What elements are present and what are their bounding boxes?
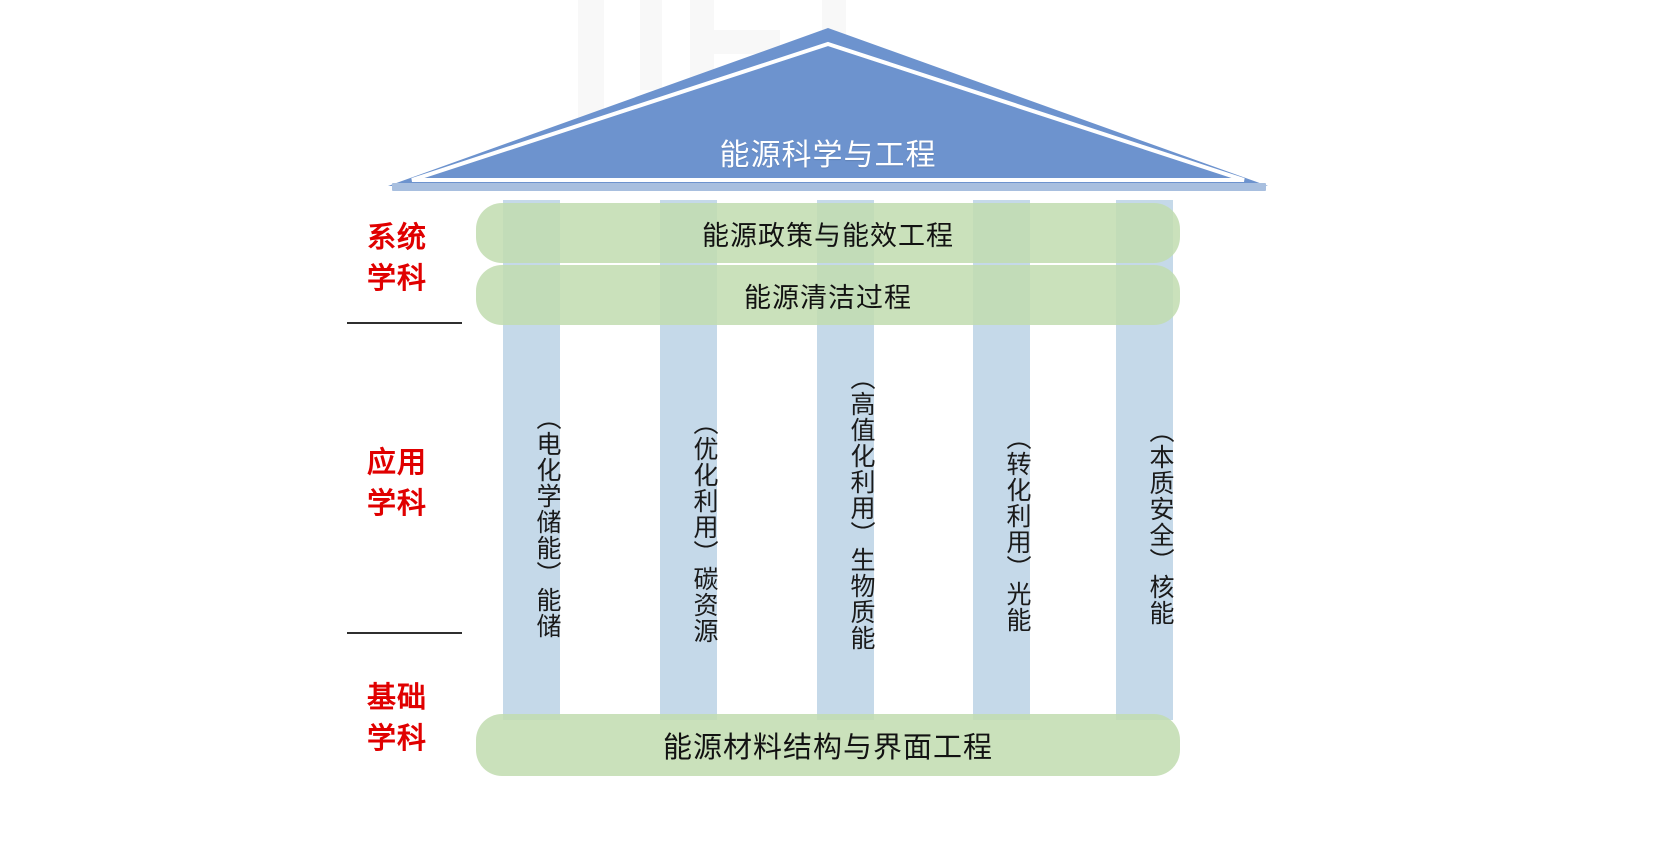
energy-science-pillar-diagram: 能源科学与工程 （电化学储能）能储 （优化利用）碳资源 （高值化利用）生物质能 … bbox=[0, 0, 1676, 848]
stage-label-foundation: 基础 学科 bbox=[342, 678, 452, 759]
stage-label-system-line-2: 学科 bbox=[342, 259, 452, 300]
pillar-label-2: （优化利用）碳资源 bbox=[660, 410, 717, 730]
stage-label-foundation-line-1: 基础 bbox=[342, 678, 452, 719]
pillar-label-1: （电化学储能）能储 bbox=[503, 405, 560, 725]
system-bar-energy-policy: 能源政策与能效工程 bbox=[476, 203, 1180, 263]
pillar-label-3: （高值化利用）生物质能 bbox=[817, 365, 874, 685]
stage-label-application-line-1: 应用 bbox=[342, 443, 452, 484]
pillar-label-4: （转化利用）光能 bbox=[973, 425, 1030, 745]
stage-label-system: 系统 学科 bbox=[342, 218, 452, 299]
pediment-title: 能源科学与工程 bbox=[388, 130, 1268, 174]
stage-label-application-line-2: 学科 bbox=[342, 484, 452, 525]
roof-base-plinth bbox=[392, 183, 1266, 191]
stage-divider-upper bbox=[347, 322, 462, 324]
pediment-roof: 能源科学与工程 bbox=[388, 28, 1268, 190]
stage-label-system-line-1: 系统 bbox=[342, 218, 452, 259]
stage-label-foundation-line-2: 学科 bbox=[342, 719, 452, 760]
system-bar-clean-process: 能源清洁过程 bbox=[476, 265, 1180, 325]
pillar-label-5: （本质安全）核能 bbox=[1116, 418, 1173, 738]
stage-label-application: 应用 学科 bbox=[342, 443, 452, 524]
stage-divider-lower bbox=[347, 632, 462, 634]
foundation-bar-materials: 能源材料结构与界面工程 bbox=[476, 714, 1180, 776]
